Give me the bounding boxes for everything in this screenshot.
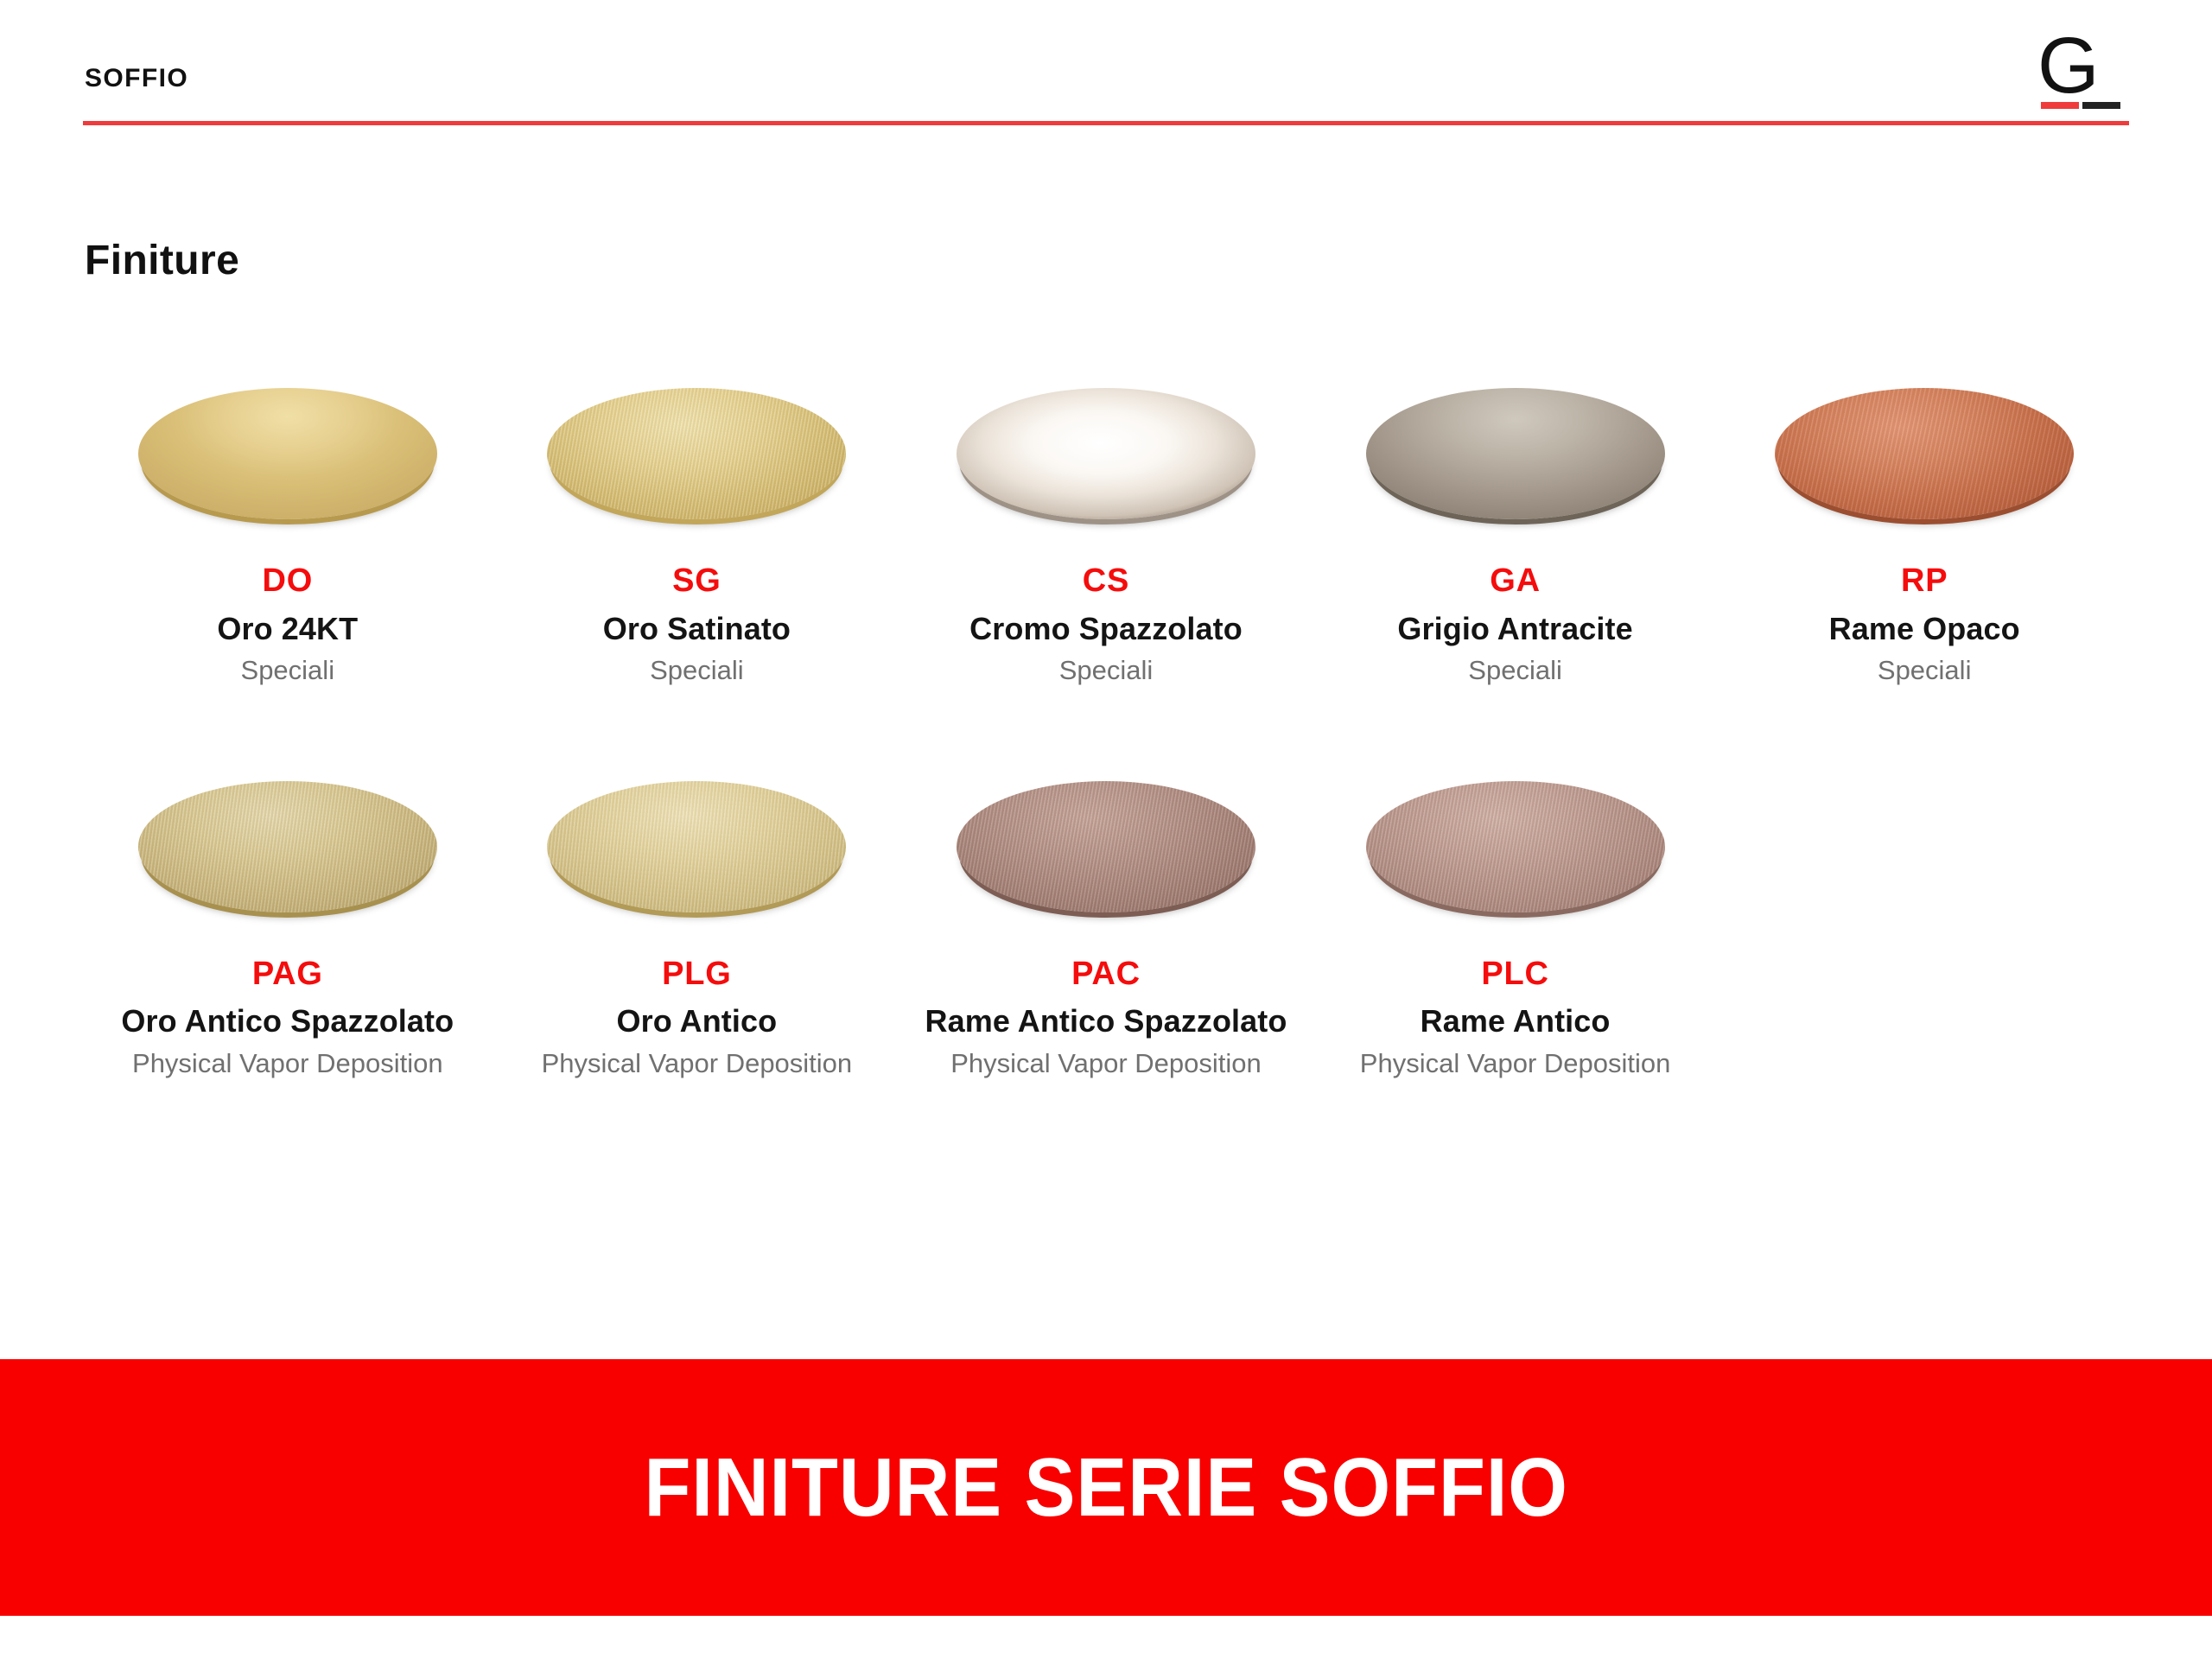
brushed-antique-gold-disc-icon	[138, 781, 437, 912]
antique-copper-disc-icon	[1366, 781, 1665, 912]
finish-label-ga: GA Grigio Antracite Speciali	[1325, 563, 1706, 687]
finish-name: Cromo Spazzolato	[916, 612, 1296, 646]
finish-name: Oro Antico	[506, 1004, 887, 1039]
logo-letter-g-icon: G	[2037, 26, 2100, 105]
finish-code: RP	[1734, 563, 2114, 600]
finish-code: GA	[1325, 563, 1706, 600]
finish-row-1: DO Oro 24KT Speciali SG Oro Satinato Spe…	[83, 372, 2129, 687]
finish-label-sg: SG Oro Satinato Speciali	[506, 563, 887, 687]
finish-technology: Physical Vapor Deposition	[916, 1048, 1296, 1080]
finish-card-plg[interactable]: PLG Oro Antico Physical Vapor Deposition	[493, 765, 902, 1080]
finish-card-do[interactable]: DO Oro 24KT Speciali	[83, 372, 493, 687]
finish-name: Grigio Antracite	[1325, 612, 1706, 646]
antique-gold-disc-icon	[547, 781, 846, 912]
finish-code: PLC	[1325, 957, 1706, 993]
finish-technology: Physical Vapor Deposition	[98, 1048, 478, 1080]
finish-row-2: PAG Oro Antico Spazzolato Physical Vapor…	[83, 765, 2129, 1080]
finish-swatch-cs	[950, 372, 1262, 536]
page-title: SOFFIO	[85, 66, 188, 92]
finish-card-pag[interactable]: PAG Oro Antico Spazzolato Physical Vapor…	[83, 765, 493, 1080]
brushed-chrome-disc-icon	[957, 388, 1255, 519]
finish-name: Oro Satinato	[506, 612, 887, 646]
finish-swatch-pag	[132, 765, 443, 929]
finish-technology: Speciali	[1325, 655, 1706, 687]
finish-technology: Speciali	[506, 655, 887, 687]
finish-swatch-ga	[1360, 372, 1671, 536]
finish-label-pag: PAG Oro Antico Spazzolato Physical Vapor…	[98, 957, 478, 1080]
page-header: SOFFIO G	[0, 0, 2212, 131]
finish-code: PLG	[506, 957, 887, 993]
finish-name: Rame Antico Spazzolato	[916, 1004, 1296, 1039]
finish-technology: Speciali	[1734, 655, 2114, 687]
finish-name: Rame Opaco	[1734, 612, 2114, 646]
finish-technology: Speciali	[98, 655, 478, 687]
finish-code: SG	[506, 563, 887, 600]
finish-swatch-sg	[541, 372, 852, 536]
brushed-gold-disc-icon	[547, 388, 846, 519]
finish-code: DO	[98, 563, 478, 600]
finish-card-pac[interactable]: PAC Rame Antico Spazzolato Physical Vapo…	[901, 765, 1311, 1080]
finish-card-cs[interactable]: CS Cromo Spazzolato Speciali	[901, 372, 1311, 687]
footer-banner: FINITURE SERIE SOFFIO	[0, 1359, 2212, 1616]
finish-grid: DO Oro 24KT Speciali SG Oro Satinato Spe…	[83, 372, 2129, 1079]
finish-card-sg[interactable]: SG Oro Satinato Speciali	[493, 372, 902, 687]
finish-swatch-rp	[1769, 372, 2080, 536]
finish-technology: Physical Vapor Deposition	[1325, 1048, 1706, 1080]
finish-swatch-plc	[1360, 765, 1671, 929]
finish-name: Oro Antico Spazzolato	[98, 1004, 478, 1039]
brand-logo: G	[2029, 33, 2133, 116]
finish-swatch-plg	[541, 765, 852, 929]
section-heading: Finiture	[85, 240, 239, 282]
logo-red-dash-icon	[2041, 102, 2079, 109]
finish-code: PAC	[916, 957, 1296, 993]
header-divider	[83, 121, 2129, 125]
finish-code: PAG	[98, 957, 478, 993]
finish-card-rp[interactable]: RP Rame Opaco Speciali	[1719, 372, 2129, 687]
finish-code: CS	[916, 563, 1296, 600]
finish-card-ga[interactable]: GA Grigio Antracite Speciali	[1311, 372, 1720, 687]
logo-black-dash-icon	[2082, 102, 2120, 109]
brushed-antique-copper-disc-icon	[957, 781, 1255, 912]
footer-title: FINITURE SERIE SOFFIO	[644, 1446, 1567, 1529]
finish-technology: Physical Vapor Deposition	[506, 1048, 887, 1080]
anthracite-grey-disc-icon	[1366, 388, 1665, 519]
finish-name: Oro 24KT	[98, 612, 478, 646]
finish-label-rp: RP Rame Opaco Speciali	[1734, 563, 2114, 687]
finish-card-plc[interactable]: PLC Rame Antico Physical Vapor Depositio…	[1311, 765, 1720, 1080]
finish-name: Rame Antico	[1325, 1004, 1706, 1039]
finish-swatch-pac	[950, 765, 1262, 929]
finish-technology: Speciali	[916, 655, 1296, 687]
matte-copper-disc-icon	[1775, 388, 2074, 519]
finish-label-plc: PLC Rame Antico Physical Vapor Depositio…	[1325, 957, 1706, 1080]
finish-swatch-do	[132, 372, 443, 536]
polished-gold-disc-icon	[138, 388, 437, 519]
finish-label-cs: CS Cromo Spazzolato Speciali	[916, 563, 1296, 687]
finish-label-pac: PAC Rame Antico Spazzolato Physical Vapo…	[916, 957, 1296, 1080]
finish-label-do: DO Oro 24KT Speciali	[98, 563, 478, 687]
finish-label-plg: PLG Oro Antico Physical Vapor Deposition	[506, 957, 887, 1080]
